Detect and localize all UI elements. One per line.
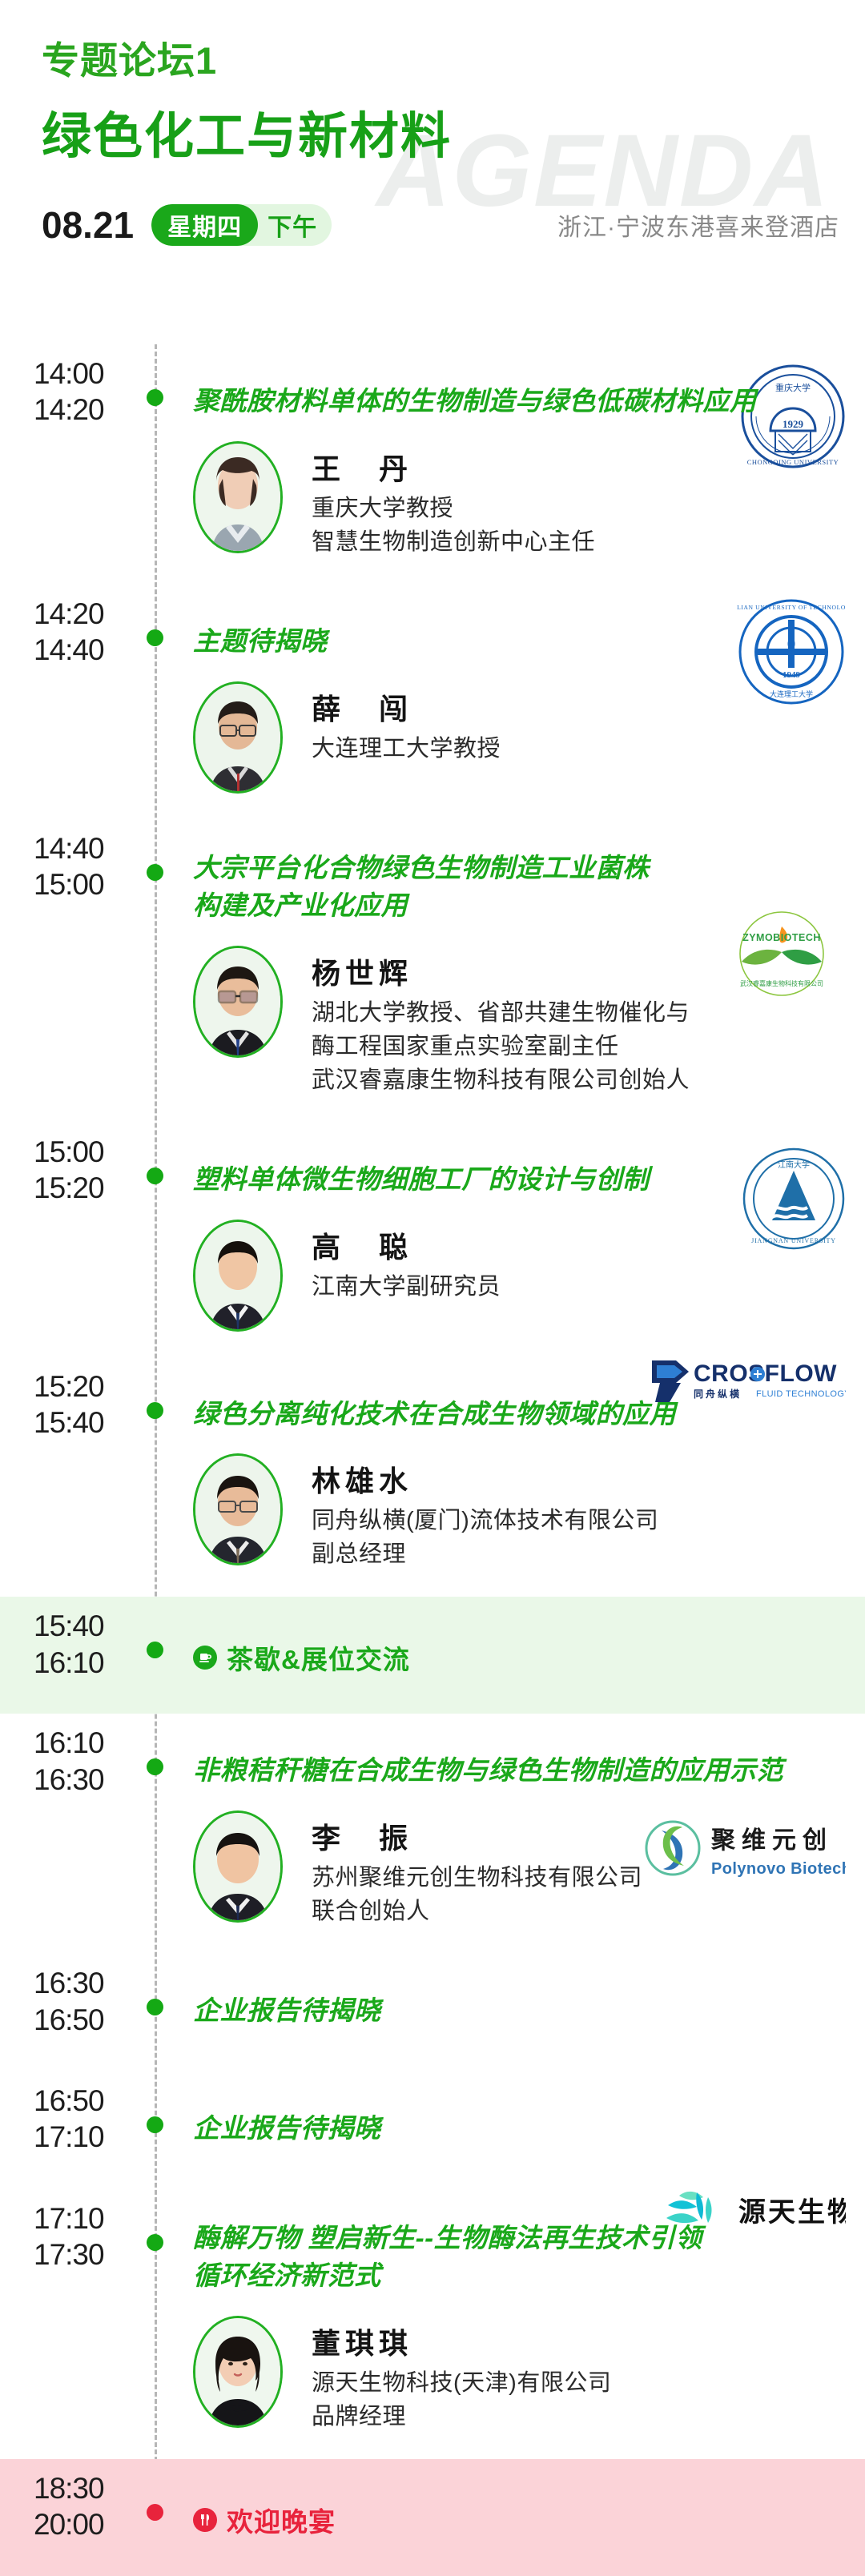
event-date: 08.21: [42, 207, 134, 243]
page-title: 绿色化工与新材料: [42, 111, 865, 163]
coffee-cup-icon: [193, 1646, 217, 1670]
page-header: AGENDA 专题论坛1 绿色化工与新材料 08.21 星期四 下午 浙江·宁波…: [0, 0, 865, 344]
speaker-affiliation: 江南大学副研究员: [312, 1270, 846, 1304]
start-time: 14:40: [34, 830, 155, 866]
session-title: 企业报告待揭晓: [193, 2110, 846, 2148]
agenda-page: AGENDA 专题论坛1 绿色化工与新材料 08.21 星期四 下午 浙江·宁波…: [0, 0, 865, 2576]
session-title-line2: 构建及产业化应用: [193, 887, 846, 925]
timeline-dot: [147, 1167, 163, 1184]
avatar: [193, 1810, 283, 1923]
break-label: 欢迎晚宴: [227, 2501, 336, 2539]
time-col: 17:10 17:30: [0, 2189, 155, 2459]
session-title: 主题待揭晓: [193, 623, 846, 661]
timeline-dot: [147, 2504, 163, 2521]
svg-text:1949: 1949: [783, 670, 801, 680]
session-title: 塑料单体微生物细胞工厂的设计与创制: [193, 1161, 846, 1199]
agenda-row[interactable]: 14:40 15:00 大宗平台化合物绿色生物制造工业菌株 构建及产业化应用: [0, 819, 865, 1123]
start-time: 15:00: [34, 1134, 155, 1170]
content-col: 塑料单体微生物细胞工厂的设计与创制 高 聪: [155, 1123, 865, 1357]
agenda-timeline: 14:00 14:20 聚酰胺材料单体的生物制造与绿色低碳材料应用: [0, 344, 865, 2576]
start-time: 16:50: [34, 2083, 155, 2119]
speaker-affiliation: 联合创始人: [312, 1895, 846, 1928]
content-col: 企业报告待揭晓: [155, 2072, 865, 2189]
time-col: 15:20 15:40: [0, 1357, 155, 1597]
start-time: 17:10: [34, 2200, 155, 2236]
polynovo-biotech-logo: 聚维元创 Polynovo Biotech: [644, 1816, 846, 1885]
avatar: [193, 1220, 283, 1332]
agenda-row[interactable]: 17:10 17:30 酶解万物 塑启新生--生物酶法再生技术引领 循环经济新范…: [0, 2189, 865, 2459]
svg-text:DALIAN UNIVERSITY OF TECHNOLOG: DALIAN UNIVERSITY OF TECHNOLOGY: [737, 604, 846, 611]
session-title: 聚酰胺材料单体的生物制造与绿色低碳材料应用: [193, 383, 846, 420]
end-time: 15:40: [34, 1405, 155, 1441]
speaker-affiliation: 品牌经理: [312, 2400, 846, 2433]
end-time: 14:20: [34, 392, 155, 428]
speaker-affiliation: 武汉睿嘉康生物科技有限公司创始人: [312, 1063, 846, 1097]
session-title: 企业报告待揭晓: [193, 1992, 846, 2030]
session-title: 绿色分离纯化技术在合成生物领域的应用: [193, 1396, 846, 1433]
period-badge: 下午: [258, 204, 332, 246]
end-time: 16:10: [34, 1645, 155, 1681]
content-col: 主题待揭晓: [155, 585, 865, 819]
end-time: 16:30: [34, 1762, 155, 1798]
timeline-dot: [147, 1402, 163, 1419]
speaker-affiliation: 酶工程国家重点实验室副主任: [312, 1030, 846, 1063]
start-time: 14:20: [34, 596, 155, 632]
session-title: 非粮秸秆糖在合成生物与绿色生物制造的应用示范: [193, 1752, 846, 1790]
avatar: [193, 1453, 283, 1565]
time-col: 16:50 17:10: [0, 2072, 155, 2189]
start-time: 15:40: [34, 1608, 155, 1644]
start-time: 14:00: [34, 356, 155, 392]
meta-row: 08.21 星期四 下午 浙江·宁波东港喜来登酒店: [42, 204, 852, 246]
time-col: 14:40 15:00: [0, 819, 155, 1123]
content-col: 大宗平台化合物绿色生物制造工业菌株 构建及产业化应用: [155, 819, 865, 1123]
avatar: [193, 441, 283, 553]
venue-label: 浙江·宁波东港喜来登酒店: [557, 207, 839, 243]
forum-label: 专题论坛1: [42, 40, 865, 82]
content-col: 茶歇&展位交流: [155, 1597, 865, 1714]
agenda-row[interactable]: 16:10 16:30 非粮秸秆糖在合成生物与绿色生物制造的应用示范: [0, 1714, 865, 1954]
agenda-row[interactable]: 15:00 15:20 塑料单体微生物细胞工厂的设计与创制: [0, 1123, 865, 1357]
end-time: 17:30: [34, 2236, 155, 2273]
speaker-affiliation: 大连理工大学教授: [312, 732, 846, 766]
cutlery-icon: [193, 2508, 217, 2532]
agenda-row[interactable]: 14:20 14:40 主题待揭晓: [0, 585, 865, 819]
end-time: 15:00: [34, 866, 155, 902]
svg-text:武汉睿嘉康生物科技有限公司: 武汉睿嘉康生物科技有限公司: [740, 979, 823, 987]
speaker-name: 董琪琪: [312, 2325, 846, 2361]
end-time: 15:20: [34, 1170, 155, 1206]
date-badges: 星期四 下午: [151, 204, 332, 246]
speaker-affiliation: 同舟纵横(厦门)流体技术有限公司: [312, 1504, 846, 1537]
content-col: 绿色分离纯化技术在合成生物领域的应用: [155, 1357, 865, 1597]
speaker-info: 林雄水 同舟纵横(厦门)流体技术有限公司 副总经理: [312, 1453, 846, 1571]
svg-text:ZYMOBIOTECH: ZYMOBIOTECH: [742, 932, 821, 943]
speaker-affiliation: 源天生物科技(天津)有限公司: [312, 2366, 846, 2400]
time-col: 14:00 14:20: [0, 344, 155, 585]
speaker-affiliation: 重庆大学教授: [312, 492, 846, 525]
start-time: 16:10: [34, 1725, 155, 1761]
session-title: 酶解万物 塑启新生--生物酶法再生技术引领: [193, 2220, 846, 2257]
agenda-row[interactable]: 14:00 14:20 聚酰胺材料单体的生物制造与绿色低碳材料应用: [0, 344, 865, 585]
agenda-row[interactable]: 15:20 15:40 绿色分离纯化技术在合成生物领域的应用: [0, 1357, 865, 1597]
content-col: 欢迎晚宴: [155, 2459, 865, 2576]
end-time: 20:00: [34, 2506, 155, 2542]
speaker-name: 林雄水: [312, 1463, 846, 1499]
break-title-wrap: 茶歇&展位交流: [193, 1638, 846, 1677]
time-col: 15:00 15:20: [0, 1123, 155, 1357]
time-col: 16:30 16:50: [0, 1954, 155, 2072]
svg-text:聚维元创: 聚维元创: [710, 1827, 833, 1854]
svg-text:JIANGNAN UNIVERSITY: JIANGNAN UNIVERSITY: [751, 1237, 836, 1244]
weekday-badge: 星期四: [151, 204, 258, 246]
speaker-affiliation: 副总经理: [312, 1537, 846, 1571]
content-col: 企业报告待揭晓: [155, 1954, 865, 2072]
session-title: 大宗平台化合物绿色生物制造工业菌株: [193, 850, 846, 887]
session-title-line2: 循环经济新范式: [193, 2257, 846, 2295]
svg-text:大连理工大学: 大连理工大学: [770, 689, 813, 698]
agenda-row[interactable]: 16:30 16:50 企业报告待揭晓: [0, 1954, 865, 2072]
speaker-block: 董琪琪 源天生物科技(天津)有限公司 品牌经理: [193, 2316, 846, 2454]
time-col: 18:30 20:00: [0, 2459, 155, 2576]
time-col: 15:40 16:10: [0, 1597, 155, 1714]
end-time: 17:10: [34, 2119, 155, 2155]
break-title-wrap: 欢迎晚宴: [193, 2501, 846, 2539]
timeline-dot: [147, 629, 163, 646]
avatar: [193, 946, 283, 1058]
avatar: [193, 2316, 283, 2428]
svg-text:CROSFLOW: CROSFLOW: [694, 1360, 837, 1387]
agenda-row[interactable]: 16:50 17:10 企业报告待揭晓: [0, 2072, 865, 2189]
end-time: 14:40: [34, 632, 155, 668]
speaker-block: 林雄水 同舟纵横(厦门)流体技术有限公司 副总经理: [193, 1453, 846, 1592]
break-label: 茶歇&展位交流: [227, 1638, 410, 1677]
svg-text:Polynovo Biotech: Polynovo Biotech: [711, 1860, 846, 1878]
speaker-affiliation: 智慧生物制造创新中心主任: [312, 525, 846, 559]
svg-text:CHONGQING UNIVERSITY: CHONGQING UNIVERSITY: [747, 458, 839, 466]
content-col: 非粮秸秆糖在合成生物与绿色生物制造的应用示范 李 振: [155, 1714, 865, 1954]
time-col: 16:10 16:30: [0, 1714, 155, 1954]
timeline-dot: [147, 389, 163, 406]
content-col: 聚酰胺材料单体的生物制造与绿色低碳材料应用: [155, 344, 865, 585]
time-col: 14:20 14:40: [0, 585, 155, 819]
start-time: 18:30: [34, 2470, 155, 2506]
content-col: 酶解万物 塑启新生--生物酶法再生技术引领 循环经济新范式: [155, 2189, 865, 2459]
break-row[interactable]: 15:40 16:10 茶歇&展位交流: [0, 1597, 865, 1714]
speaker-info: 董琪琪 源天生物科技(天津)有限公司 品牌经理: [312, 2316, 846, 2433]
start-time: 16:30: [34, 1965, 155, 2001]
end-time: 16:50: [34, 2002, 155, 2038]
speaker-affiliation: 湖北大学教授、省部共建生物催化与: [312, 996, 846, 1030]
timeline-dot: [147, 2234, 163, 2251]
timeline-dot: [147, 864, 163, 881]
start-time: 15:20: [34, 1368, 155, 1405]
break-row[interactable]: 18:30 20:00 欢迎晚宴: [0, 2459, 865, 2576]
avatar: [193, 681, 283, 794]
